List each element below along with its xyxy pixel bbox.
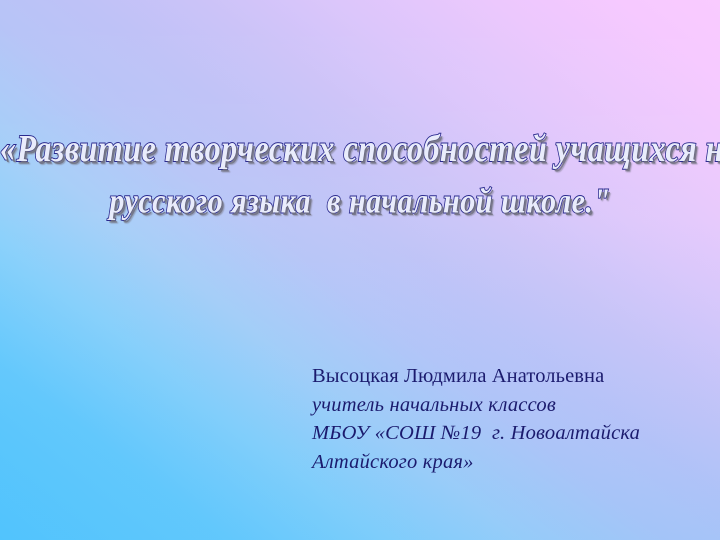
author-name: Высоцкая Людмила Анатольевна <box>312 362 712 391</box>
author-position: учитель начальных классов <box>312 391 712 420</box>
title-line-2: русского языка в начальной школе." <box>0 170 720 233</box>
author-school: МБОУ «СОШ №19 г. Новоалтайска <box>312 419 712 448</box>
author-affiliation-block: Высоцкая Людмила Анатольевна учитель нач… <box>312 362 712 476</box>
presentation-slide: «Развитие творческих способностей учащих… <box>0 0 720 540</box>
author-region: Алтайского края» <box>312 448 712 477</box>
slide-title: «Развитие творческих способностей учащих… <box>0 122 720 228</box>
